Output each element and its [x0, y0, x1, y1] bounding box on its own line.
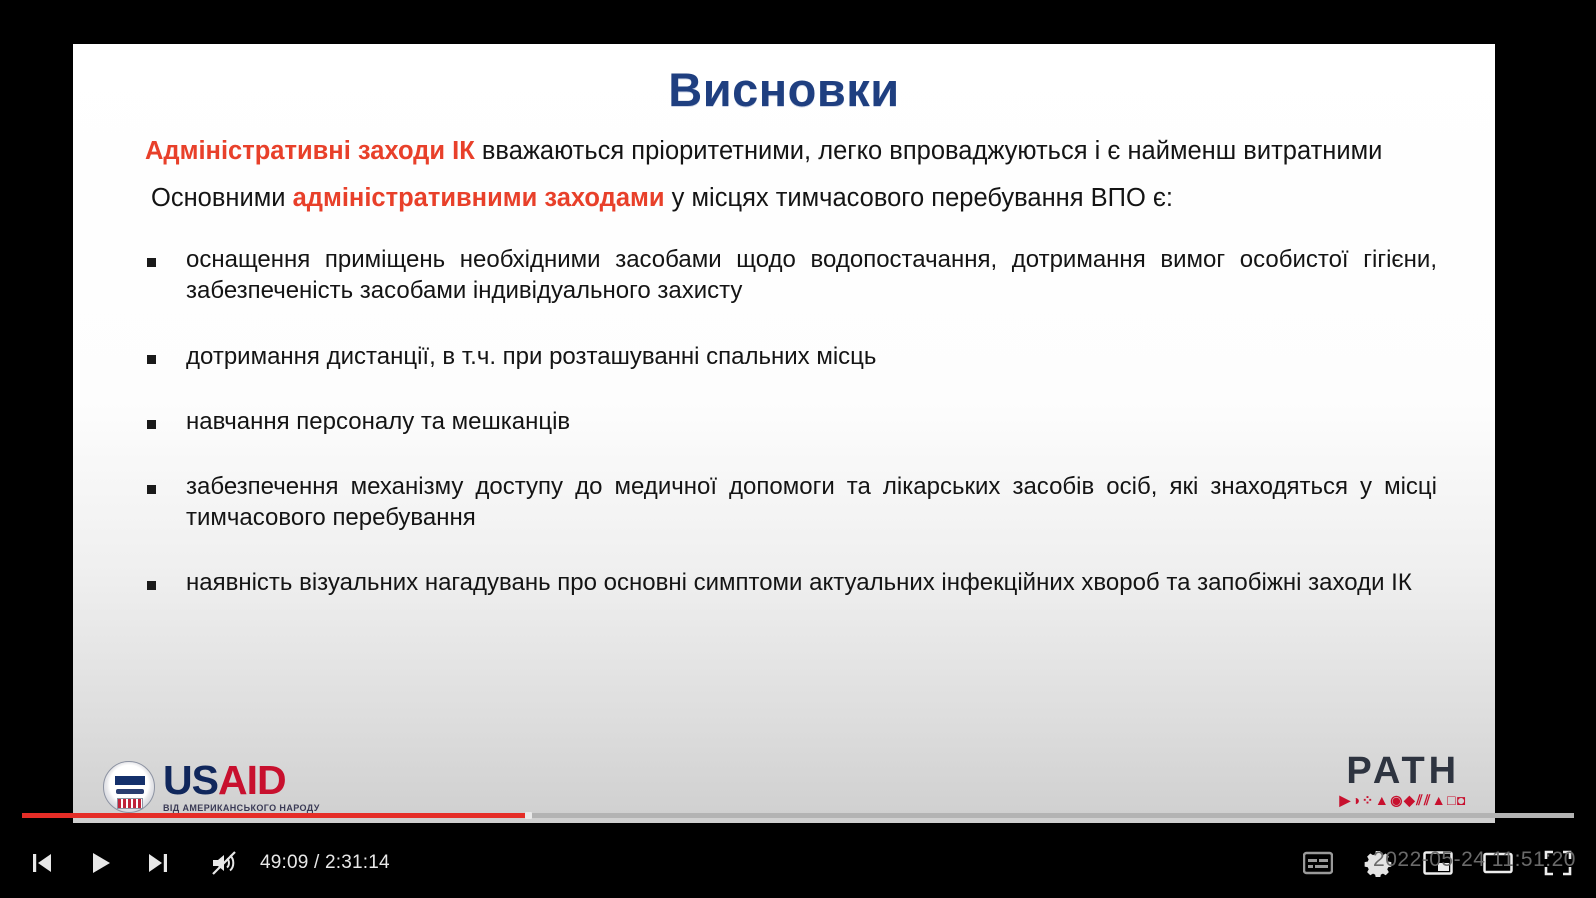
list-item: оснащення приміщень необхідними засобами… [145, 244, 1437, 306]
bullet-square-icon [147, 485, 156, 494]
path-logo: PATH ▶◑⁘▲◉◆⫽⫽▲□◘ [1339, 752, 1467, 809]
bullet-square-icon [147, 420, 156, 429]
usaid-seal-icon [103, 761, 155, 813]
list-item: наявність візуальних нагадувань про осно… [145, 567, 1437, 598]
video-slide-frame[interactable]: Висновки Адміністративні заходи ІК вважа… [73, 44, 1495, 823]
list-item: дотримання дистанції, в т.ч. при розташу… [145, 341, 1437, 372]
bullet-square-icon [147, 258, 156, 267]
path-wordmark: PATH [1339, 752, 1467, 790]
progress-bar-fill [22, 813, 525, 818]
path-glyph-row: ▶◑⁘▲◉◆⫽⫽▲□◘ [1339, 792, 1467, 809]
gear-icon [1364, 849, 1392, 877]
usaid-logo: USAID ВІД АМЕРИКАНСЬКОГО НАРОДУ [103, 760, 320, 813]
fullscreen-button[interactable] [1532, 837, 1584, 889]
usaid-wordmark-us: US [163, 757, 218, 803]
volume-muted-icon [210, 849, 238, 877]
usaid-tagline: ВІД АМЕРИКАНСЬКОГО НАРОДУ [163, 804, 320, 813]
play-button[interactable] [74, 837, 126, 889]
theater-mode-icon [1483, 850, 1513, 876]
theater-mode-button[interactable] [1472, 837, 1524, 889]
settings-button[interactable] [1352, 837, 1404, 889]
slide-footer: USAID ВІД АМЕРИКАНСЬКОГО НАРОДУ PATH ▶◑⁘… [73, 737, 1495, 823]
bullet-square-icon [147, 581, 156, 590]
list-item: забезпечення механізму доступу до медичн… [145, 471, 1437, 533]
subtitles-button[interactable] [1292, 837, 1344, 889]
player-control-bar: 49:09 / 2:31:14 [0, 828, 1596, 898]
progress-bar-track[interactable] [22, 813, 1574, 818]
usaid-wordmark-aid: AID [218, 757, 286, 803]
slide-intro-paragraph-1: Адміністративні заходи ІК вважаються прі… [145, 135, 1437, 168]
bullet-text: оснащення приміщень необхідними засобами… [186, 244, 1437, 306]
previous-track-icon [29, 850, 55, 876]
bullet-text: забезпечення механізму доступу до медичн… [186, 471, 1437, 533]
intro-1-highlight: Адміністративні заходи ІК [145, 137, 475, 165]
list-item: навчання персоналу та мешканців [145, 406, 1437, 437]
previous-button[interactable] [16, 837, 68, 889]
subtitles-icon [1303, 851, 1333, 875]
play-icon [87, 850, 113, 876]
progress-bar-handle[interactable] [525, 812, 532, 819]
intro-2-text-tail: у місцях тимчасового перебування ВПО є: [665, 184, 1173, 212]
bullet-text: дотримання дистанції, в т.ч. при розташу… [186, 341, 1437, 372]
video-player: Висновки Адміністративні заходи ІК вважа… [0, 0, 1596, 898]
slide-intro-paragraph-2: Основними адміністративними заходами у м… [151, 182, 1437, 215]
intro-1-text: вважаються пріоритетними, легко впровадж… [475, 137, 1383, 165]
miniplayer-button[interactable] [1412, 837, 1464, 889]
fullscreen-icon [1544, 850, 1572, 876]
next-track-icon [145, 850, 171, 876]
next-button[interactable] [132, 837, 184, 889]
mute-button[interactable] [198, 837, 250, 889]
bullet-text: навчання персоналу та мешканців [186, 406, 1437, 437]
time-display: 49:09 / 2:31:14 [260, 852, 390, 874]
bullet-square-icon [147, 355, 156, 364]
bullet-text: наявність візуальних нагадувань про осно… [186, 567, 1437, 598]
intro-2-highlight: адміністративними заходами [293, 184, 665, 212]
slide-bullet-list: оснащення приміщень необхідними засобами… [145, 244, 1437, 598]
intro-2-text-lead: Основними [151, 184, 293, 212]
slide-title: Висновки [73, 62, 1495, 117]
miniplayer-icon [1423, 850, 1453, 876]
right-control-group [1292, 837, 1596, 889]
